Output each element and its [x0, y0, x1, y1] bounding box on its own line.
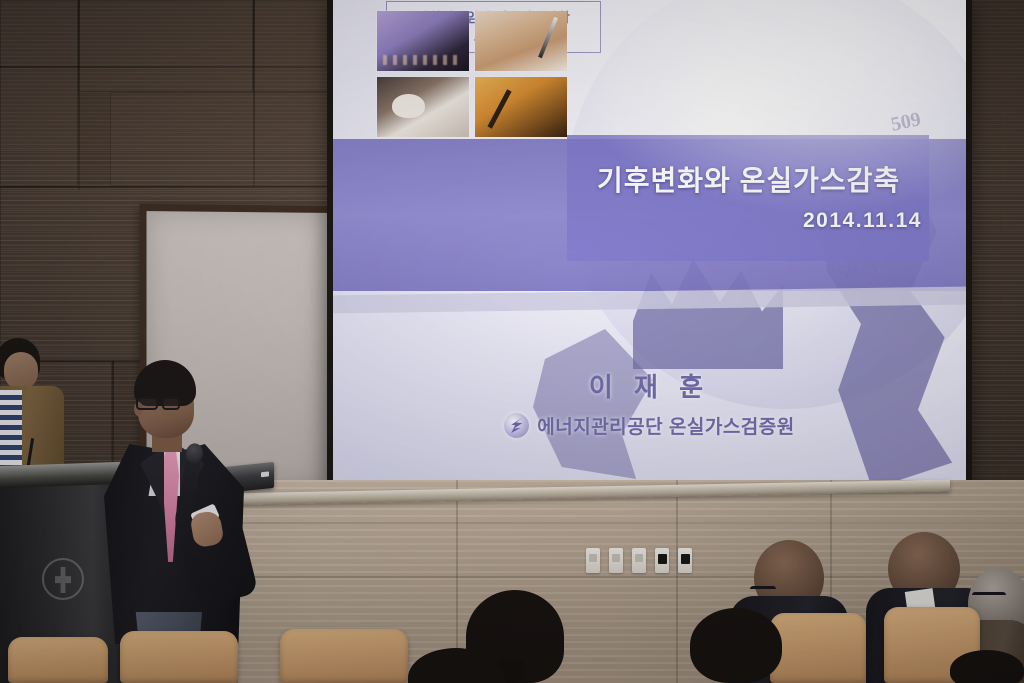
audience-member-front-center — [690, 608, 782, 683]
audience-glasses-icon-right — [972, 592, 1006, 601]
presentation-photo-scene: 509 34 5723 5023 사회적책임과 지속가능과학 2014 추계학술… — [0, 0, 1024, 683]
audience-glasses-icon-left — [750, 586, 776, 595]
keyboard-hand-photo — [377, 11, 469, 71]
slide-title: 기후변화와 온실가스감축 — [597, 159, 917, 199]
wall-port-2[interactable] — [678, 548, 692, 573]
writing-pen-photo — [475, 11, 567, 71]
slide-date: 2014.11.14 — [803, 209, 922, 233]
slide-organization-row: 에너지관리공단 온실가스검증원 — [333, 412, 966, 439]
slide-speaker-name: 이 재 훈 — [333, 367, 966, 404]
wooden-auditorium-chair[interactable] — [120, 631, 238, 683]
wall-port-1[interactable] — [655, 548, 669, 573]
lectern-emblem-icon — [42, 558, 84, 600]
wall-switch-1[interactable] — [586, 548, 600, 573]
assistant-face — [4, 352, 38, 390]
energy-management-corporation-logo-icon — [504, 413, 529, 438]
slide-organization-name: 에너지관리공단 온실가스검증원 — [537, 412, 795, 439]
computer-mouse-photo — [377, 77, 469, 137]
tool-closeup-photo — [475, 77, 567, 137]
slide-photo-grid — [377, 11, 567, 137]
wall-outlet-group — [586, 548, 692, 573]
wooden-auditorium-chair[interactable] — [8, 637, 108, 683]
projection-screen: 509 34 5723 5023 사회적책임과 지속가능과학 2014 추계학술… — [327, 0, 972, 502]
wall-switch-3[interactable] — [632, 548, 646, 573]
presenter-glasses-icon — [136, 397, 194, 410]
audience-member-far-right — [950, 650, 1024, 683]
wall-switch-2[interactable] — [609, 548, 623, 573]
wooden-auditorium-chair[interactable] — [770, 613, 866, 683]
wooden-auditorium-chair[interactable] — [280, 629, 408, 683]
slide-content: 509 34 5723 5023 사회적책임과 지속가능과학 2014 추계학술… — [333, 0, 966, 492]
